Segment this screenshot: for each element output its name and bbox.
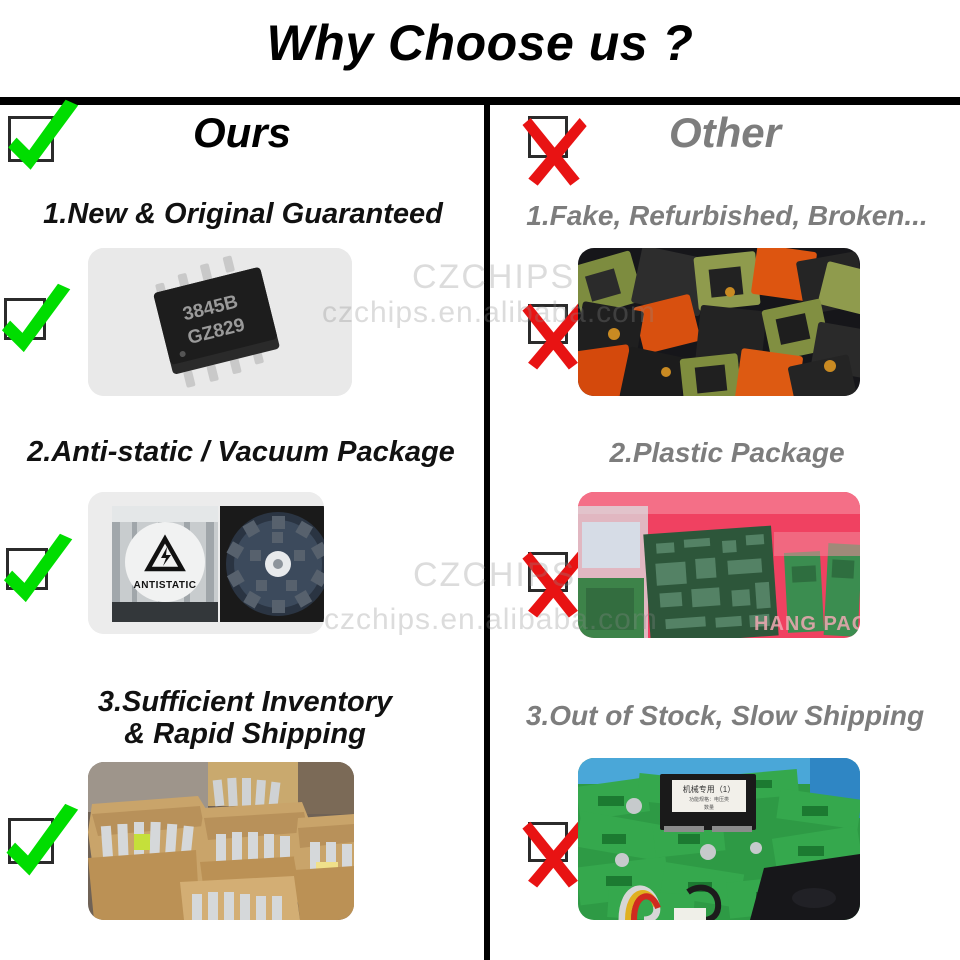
cross-icon (528, 552, 568, 592)
check-icon (4, 298, 46, 340)
other-row-1-image (578, 248, 860, 396)
check-icon (8, 818, 54, 864)
cross-icon (528, 116, 568, 158)
svg-text:HANG PACK: HANG PACK (754, 613, 860, 635)
ours-row-1-label: 1.New & Original Guaranteed (10, 198, 476, 230)
page-title: Why Choose us ? (0, 14, 960, 72)
check-icon (8, 116, 54, 162)
other-row-2-image: HANG PACK (578, 492, 860, 638)
other-row-2-label: 2.Plastic Package (496, 437, 958, 468)
ours-row-3-label: 3.Sufficient Inventory & Rapid Shipping (20, 686, 470, 751)
svg-text:功能规格：电压类: 功能规格：电压类 (689, 796, 729, 803)
why-choose-us-comparison: Why Choose us ? Ours Other 1.New & Origi… (0, 0, 960, 960)
horizontal-divider (0, 97, 960, 105)
svg-text:机械专用（1）: 机械专用（1） (683, 784, 735, 794)
other-row-3-image: 机械专用（1） 功能规格：电压类 数量 (578, 758, 860, 920)
svg-text:ANTISTATIC: ANTISTATIC (134, 580, 197, 591)
ours-row-2-label: 2.Anti-static / Vacuum Package (6, 436, 476, 468)
ours-row-3-image (88, 762, 354, 920)
cross-icon (528, 822, 568, 862)
other-row-1-label: 1.Fake, Refurbished, Broken... (496, 200, 958, 231)
cross-icon (528, 304, 568, 344)
ours-row-2-image: ANTISTATIC (88, 492, 324, 634)
watermark-brand: CZCHIPS (412, 258, 575, 297)
check-icon (6, 548, 48, 590)
other-row-3-label: 3.Out of Stock, Slow Shipping (490, 700, 960, 731)
vertical-divider (484, 105, 490, 960)
svg-text:数量: 数量 (704, 804, 714, 811)
ours-row-1-image: 3845B GZ829 (88, 248, 352, 396)
